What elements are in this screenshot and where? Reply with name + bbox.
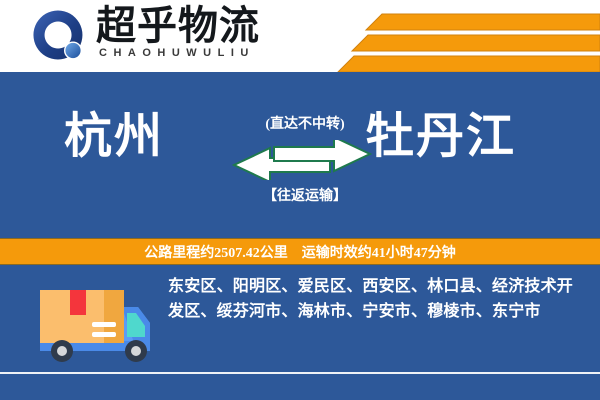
logistics-route-banner: 超乎物流 CHAOHUWULIU 杭州 (直达不中转) 【往 xyxy=(0,0,600,400)
coverage-districts-text: 东安区、阳明区、爱民区、西安区、林口县、经济技术开发区、绥芬河市、海林市、宁安市… xyxy=(168,274,580,324)
double-arrow-bidirectional-icon xyxy=(232,140,372,180)
coverage-panel: 东安区、阳明区、爱民区、西安区、林口县、经济技术开发区、绥芬河市、海林市、宁安市… xyxy=(0,265,600,400)
direct-shipping-note: (直达不中转) xyxy=(247,113,363,133)
origin-city: 杭州 xyxy=(64,108,164,166)
banner-header: 超乎物流 CHAOHUWULIU xyxy=(0,0,600,72)
bottom-divider xyxy=(0,372,600,374)
destination-city: 牡丹江 xyxy=(366,108,516,166)
route-panel: 杭州 (直达不中转) 【往返运输】 牡丹江 xyxy=(0,72,600,238)
delivery-truck-icon xyxy=(26,277,158,369)
brand-name-cn: 超乎物流 xyxy=(96,4,260,48)
chaohu-circle-logo-icon xyxy=(32,9,85,62)
distance-label: 公路里程约2507.42公里 xyxy=(144,242,288,262)
orange-diagonal-stripes-icon xyxy=(330,0,600,72)
route-info-bar: 公路里程约2507.42公里 运输时效约41小时47分钟 xyxy=(0,238,600,265)
round-trip-note: 【往返运输】 xyxy=(243,185,367,205)
brand-name-en: CHAOHUWULIU xyxy=(99,47,255,59)
duration-label: 运输时效约41小时47分钟 xyxy=(302,242,456,262)
